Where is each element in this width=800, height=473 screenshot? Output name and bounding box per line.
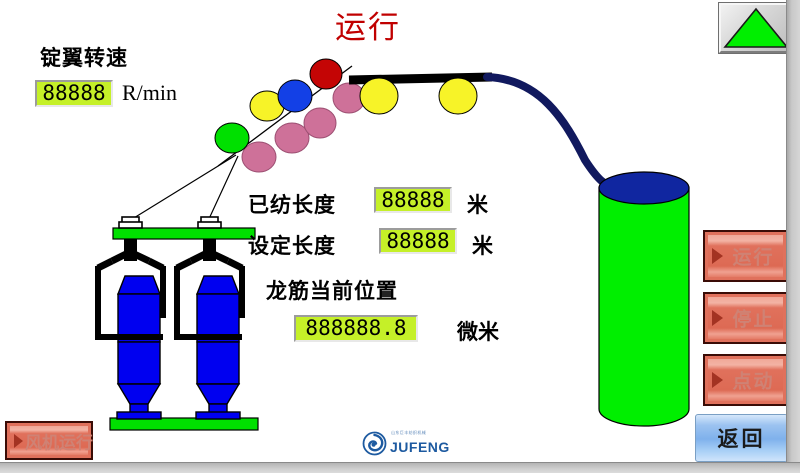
rail-position-label: 龙筋当前位置 (266, 275, 398, 305)
roller-yellow-2 (360, 78, 398, 114)
hmi-screen: 运行 锭翼转速 88888 R/min 已纺长度 88888 米 设定长度 88… (0, 0, 800, 473)
play-arrow-icon (712, 310, 723, 326)
flyer-speed-label: 锭翼转速 (40, 42, 128, 72)
rail-position-unit: 微米 (457, 316, 499, 346)
flyer-top-cap-right (198, 222, 221, 228)
roller-pink-2 (275, 123, 309, 153)
jog-button[interactable]: 点动 (703, 354, 788, 406)
play-arrow-icon (712, 248, 723, 264)
flyer-speed-value[interactable]: 88888 (35, 80, 113, 107)
bottom-edge-strip (0, 462, 800, 473)
logo-wordmark: JUFENG (390, 439, 450, 455)
fan-run-button[interactable]: 风机运行 (5, 421, 93, 460)
thread-line-right (208, 156, 238, 221)
stop-button[interactable]: 停止 (703, 292, 788, 344)
run-button-label: 运行 (725, 243, 782, 270)
run-button[interactable]: 运行 (703, 230, 788, 282)
spindle-left (96, 239, 163, 419)
can-opening (605, 175, 683, 199)
play-arrow-icon (14, 434, 23, 448)
spun-length-unit: 米 (467, 189, 488, 219)
jog-button-label: 点动 (725, 367, 782, 394)
spun-length-value[interactable]: 88888 (374, 187, 452, 213)
play-arrow-icon (712, 372, 723, 388)
set-length-unit: 米 (472, 230, 493, 260)
spindle-right (175, 239, 242, 419)
roller-green (215, 123, 249, 153)
up-triangle-button[interactable] (719, 3, 793, 53)
return-button[interactable]: 返回 (695, 414, 788, 462)
fan-run-button-label: 风机运行 (25, 428, 87, 453)
logo-subtitle: 山东巨丰纺织机械 (391, 430, 426, 436)
jufeng-logo: 山东巨丰纺织机械 JUFENG (362, 428, 462, 458)
sliver-strand (487, 77, 617, 188)
set-length-value[interactable]: 88888 (379, 228, 457, 254)
lower-rail (110, 418, 258, 430)
jufeng-swirl-icon (362, 431, 387, 456)
page-title: 运行 (335, 2, 401, 47)
triangle-up-icon (721, 5, 791, 51)
roller-pink-3 (304, 108, 336, 138)
can-body (599, 188, 689, 426)
rail-position-value[interactable]: 888888.8 (294, 315, 418, 342)
set-length-label: 设定长度 (248, 230, 336, 260)
right-edge-strip (786, 0, 800, 473)
stop-button-label: 停止 (725, 305, 782, 332)
roller-pink-1 (242, 142, 276, 172)
flyer-top-cap-left (119, 222, 142, 228)
roller-yellow-3 (439, 78, 477, 114)
roller-red (310, 59, 342, 89)
spun-length-label: 已纺长度 (248, 189, 336, 219)
roller-blue (278, 80, 312, 112)
upper-rail (113, 228, 255, 239)
flyer-speed-unit: R/min (122, 80, 177, 106)
